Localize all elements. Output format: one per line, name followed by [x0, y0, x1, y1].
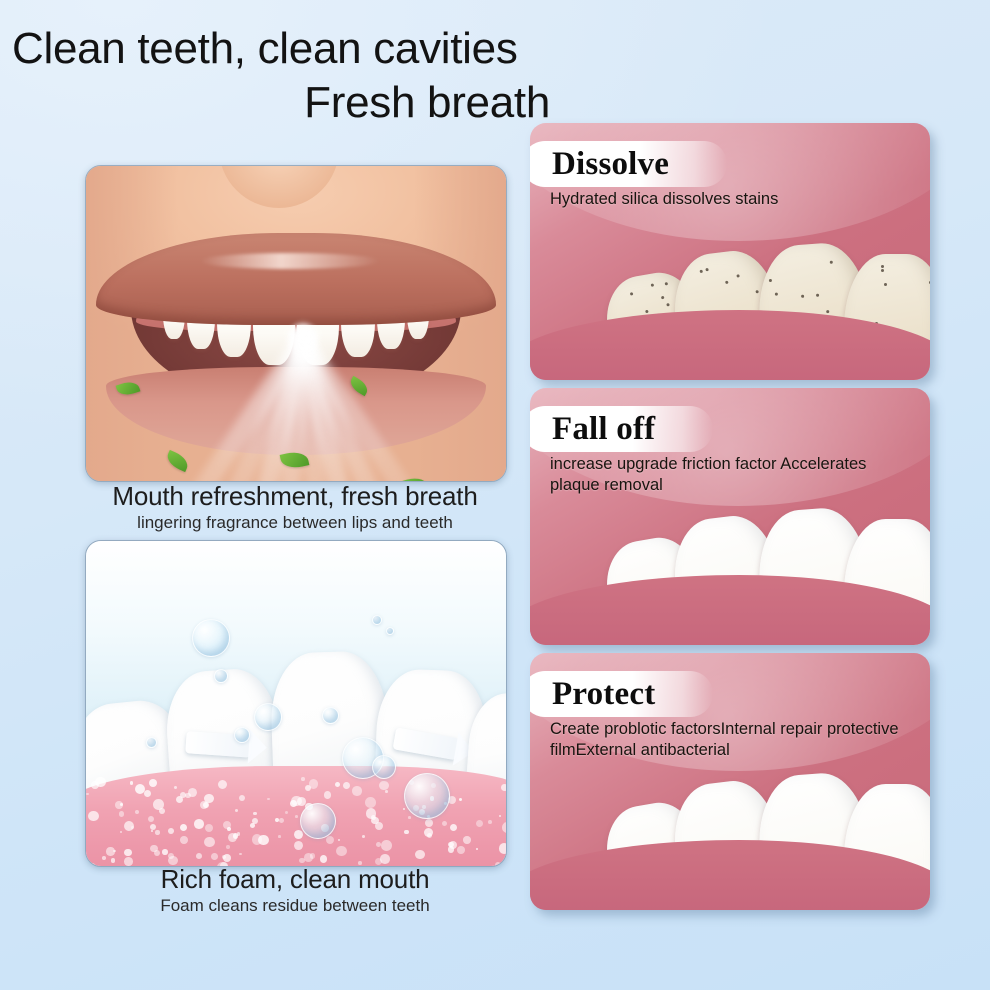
foam-bubble	[196, 853, 202, 859]
stain-speck	[725, 281, 728, 284]
foam-bubble	[448, 846, 454, 852]
caption-foam-main: Rich foam, clean mouth	[60, 865, 530, 894]
benefit-card-protect[interactable]: Protect Create problotic factorsInternal…	[530, 653, 930, 910]
product-feature-poster: Clean teeth, clean cavities Fresh breath…	[0, 0, 990, 990]
stain-speck	[830, 260, 833, 263]
lip-highlight	[200, 253, 380, 269]
stain-speck	[661, 296, 664, 299]
card-title-protect: Protect	[552, 676, 655, 713]
foam-bubble	[275, 818, 279, 822]
foam-bubble	[91, 781, 99, 789]
card-description-falloff: increase upgrade friction factor Acceler…	[550, 454, 920, 496]
upper-lip	[96, 233, 496, 325]
foam-bubble	[258, 835, 268, 845]
stain-speck	[884, 283, 887, 286]
foam-bubble	[252, 818, 258, 824]
water-bubble	[254, 703, 282, 731]
foam-bubble	[336, 846, 346, 856]
foam-bubble	[499, 843, 507, 854]
stain-speck	[666, 303, 669, 306]
water-bubble	[234, 727, 250, 743]
caption-smile: Mouth refreshment, fresh breath lingerin…	[60, 482, 530, 532]
foam-bubble	[352, 786, 361, 795]
foam-bubble	[450, 824, 457, 831]
foam-bubble	[144, 790, 151, 797]
foam-bubble	[457, 846, 465, 854]
foam-bubble	[301, 777, 305, 781]
water-bubble	[192, 619, 230, 657]
foam-bubble	[304, 853, 313, 862]
foam-bubble	[115, 801, 122, 808]
foam-bubble	[459, 798, 462, 801]
foam-bubble	[88, 811, 99, 822]
stain-speck	[700, 270, 703, 273]
card-title-banner-dissolve: Dissolve	[530, 141, 727, 187]
foam-bubble	[204, 794, 213, 803]
foam-bubble	[291, 796, 301, 806]
foam-bubble	[343, 782, 350, 789]
stain-speck	[630, 293, 633, 296]
foam-teeth-illustration	[85, 540, 507, 867]
foam-bubble	[278, 835, 281, 838]
stain-speck	[645, 310, 648, 313]
headline-line-2: Fresh breath	[0, 76, 560, 130]
card-title-banner-falloff: Fall off	[530, 406, 713, 452]
water-bubble	[372, 755, 396, 779]
foam-bubble	[250, 823, 255, 828]
stain-speck	[775, 293, 778, 296]
foam-bubble	[448, 842, 454, 848]
foam-bubble	[180, 792, 186, 798]
cleaning-arrow-icon	[392, 727, 459, 760]
stain-speck	[736, 274, 739, 277]
mouth-group	[96, 227, 496, 457]
benefit-card-dissolve[interactable]: Dissolve Hydrated silica dissolves stain…	[530, 123, 930, 380]
foam-bubble	[295, 815, 298, 818]
foam-bubble	[124, 849, 131, 856]
water-bubble	[404, 773, 450, 819]
stain-speck	[800, 294, 803, 297]
stain-speck	[756, 290, 759, 293]
page-title: Clean teeth, clean cavities Fresh breath	[0, 22, 560, 130]
foam-bubble	[226, 845, 230, 849]
foam-bubble	[488, 820, 492, 824]
foam-bubble	[148, 816, 154, 822]
caption-foam-sub: Foam cleans residue between teeth	[60, 896, 530, 916]
foam-bubble	[235, 809, 238, 812]
stain-speck	[768, 279, 771, 282]
foam-bubble	[502, 822, 507, 833]
foam-bubble	[149, 779, 157, 787]
stain-speck	[929, 281, 930, 284]
foam-bubble	[408, 816, 411, 819]
caption-smile-main: Mouth refreshment, fresh breath	[60, 482, 530, 511]
foam-bubble	[168, 828, 174, 834]
foam-bubble	[150, 845, 157, 852]
foam-bubble	[324, 791, 331, 798]
stain-speck	[650, 284, 653, 287]
foam-bubble	[320, 855, 327, 862]
water-bubble	[372, 615, 382, 625]
foam-bubble	[379, 781, 389, 791]
foam-bubble	[113, 850, 116, 853]
card-title-dissolve: Dissolve	[552, 146, 669, 183]
foam-bubble	[381, 840, 392, 851]
card-description-dissolve: Hydrated silica dissolves stains	[550, 189, 920, 210]
foam-bubble	[155, 830, 159, 834]
foam-bubble	[366, 808, 377, 819]
benefit-card-falloff[interactable]: Fall off increase upgrade friction facto…	[530, 388, 930, 645]
foam-bubble	[403, 808, 405, 810]
foam-bubble	[427, 833, 432, 838]
caption-smile-sub: lingering fragrance between lips and tee…	[60, 513, 530, 533]
stain-speck	[665, 281, 668, 284]
water-bubble	[300, 803, 336, 839]
foam-bubble	[365, 797, 376, 808]
foam-bubble	[501, 784, 507, 791]
foam-bubble	[376, 842, 381, 847]
stain-speck	[816, 294, 819, 297]
foam-bubble	[385, 790, 388, 793]
foam-bubble	[162, 849, 167, 854]
water-bubble	[386, 627, 394, 635]
foam-bubble	[442, 821, 447, 826]
smiling-mouth-photo	[85, 165, 507, 482]
foam-bubble	[362, 835, 365, 838]
card-description-protect: Create problotic factorsInternal repair …	[550, 719, 920, 761]
foam-bubble	[124, 821, 134, 831]
card-title-falloff: Fall off	[552, 411, 655, 448]
foam-bubble	[102, 856, 106, 860]
headline-line-1: Clean teeth, clean cavities	[0, 22, 560, 76]
caption-foam: Rich foam, clean mouth Foam cleans resid…	[60, 865, 530, 915]
lower-lip	[106, 367, 486, 455]
stain-speck	[881, 269, 884, 272]
foam-bubble	[463, 836, 471, 844]
foam-bubble	[233, 833, 239, 839]
foam-bubble	[425, 819, 433, 827]
foam-bubble	[86, 793, 88, 795]
card-title-banner-protect: Protect	[530, 671, 713, 717]
foam-bubble	[253, 812, 257, 816]
foam-bubble	[294, 830, 303, 839]
foam-bubble	[151, 830, 153, 832]
water-bubble	[322, 707, 339, 724]
foam-bubble	[223, 854, 231, 862]
foam-bubble	[499, 815, 501, 817]
water-bubble	[214, 669, 228, 683]
foam-bubble	[404, 830, 409, 835]
foam-bubble	[180, 836, 188, 844]
stain-speck	[705, 268, 708, 271]
stain-speck	[881, 265, 884, 268]
foam-bubble	[168, 853, 174, 859]
foam-bubble	[326, 836, 334, 844]
foam-bubble	[218, 780, 227, 789]
water-bubble	[146, 737, 157, 748]
stain-speck	[826, 310, 829, 313]
foam-bubble	[305, 785, 311, 791]
